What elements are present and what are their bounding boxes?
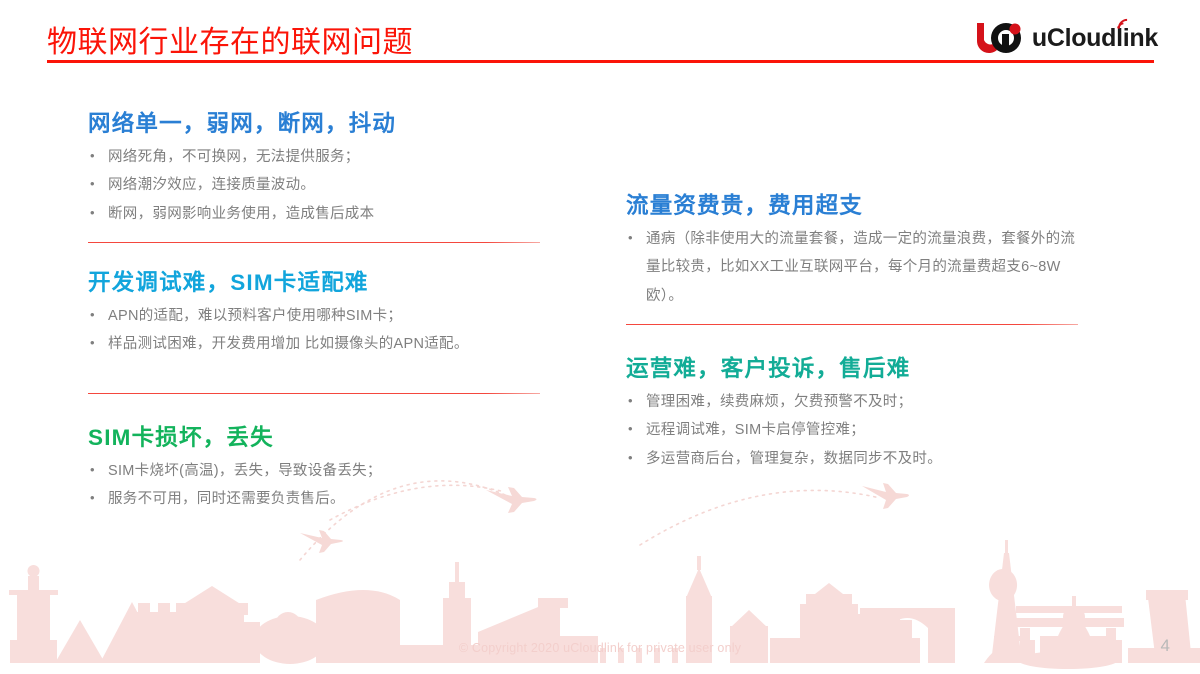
block-data-cost: 流量资费贵，费用超支 通病（除非使用大的流量套餐，造成一定的流量浪费，套餐外的流… (626, 192, 1078, 325)
ucloudlink-logo-mark (975, 21, 1023, 55)
logo-wordmark: uCloudlink (1032, 26, 1158, 51)
bullet-list: 通病（除非使用大的流量套餐，造成一定的流量浪费，套餐外的流量比较贵，比如XX工业… (626, 225, 1078, 310)
block-heading: 开发调试难，SIM卡适配难 (88, 269, 540, 296)
slide-header: 物联网行业存在的联网问题 uCloudlink (0, 0, 1200, 70)
list-item: 多运营商后台，管理复杂，数据同步不及时。 (626, 445, 1078, 473)
block-dev-debug: 开发调试难，SIM卡适配难 APN的适配，难以预料客户使用哪种SIM卡； 样品测… (88, 269, 540, 394)
list-item: 管理困难，续费麻烦，欠费预警不及时； (626, 388, 1078, 416)
block-divider (88, 393, 540, 394)
list-item: 样品测试困难，开发费用增加 比如摄像头的APN适配。 (88, 330, 540, 358)
block-divider (88, 242, 540, 243)
landmark-torii (1012, 606, 1124, 669)
bullet-list: SIM卡烧坏(高温)，丢失，导致设备丢失； 服务不可用，同时还需要负责售后。 (88, 457, 540, 514)
block-heading: 流量资费贵，费用超支 (626, 192, 1078, 219)
list-item: 远程调试难，SIM卡启停管控难； (626, 416, 1078, 444)
bullet-list: 网络死角，不可换网，无法提供服务； 网络潮汐效应，连接质量波动。 断网，弱网影响… (88, 143, 540, 228)
copyright-text: © Copyright 2020 uCloudlink for private … (0, 641, 1200, 655)
signal-icon (1117, 18, 1128, 29)
block-sim-damage: SIM卡损坏，丢失 SIM卡烧坏(高温)，丢失，导致设备丢失； 服务不可用，同时… (88, 424, 540, 514)
header-divider (47, 60, 1154, 63)
plane-icon-2 (300, 530, 343, 553)
left-column: 网络单一，弱网，断网，抖动 网络死角，不可换网，无法提供服务； 网络潮汐效应，连… (88, 110, 540, 514)
flight-path-3 (640, 490, 880, 545)
block-heading: 网络单一，弱网，断网，抖动 (88, 110, 540, 137)
list-item: SIM卡烧坏(高温)，丢失，导致设备丢失； (88, 457, 540, 485)
list-item: 断网，弱网影响业务使用，造成售后成本 (88, 200, 540, 228)
hot-air-balloon-icon (989, 569, 1017, 631)
list-item: 网络潮汐效应，连接质量波动。 (88, 171, 540, 199)
block-heading: 运营难，客户投诉，售后难 (626, 355, 1078, 382)
block-heading: SIM卡损坏，丢失 (88, 424, 540, 451)
page-title: 物联网行业存在的联网问题 (47, 17, 413, 61)
block-network-single: 网络单一，弱网，断网，抖动 网络死角，不可换网，无法提供服务； 网络潮汐效应，连… (88, 110, 540, 243)
slide: 物联网行业存在的联网问题 uCloudlink 网络单一，弱网，断网，抖动 (0, 0, 1200, 674)
ucloudlink-logo: uCloudlink (975, 18, 1158, 58)
list-item: 服务不可用，同时还需要负责售后。 (88, 485, 540, 513)
list-item: 通病（除非使用大的流量套餐，造成一定的流量浪费，套餐外的流量比较贵，比如XX工业… (626, 225, 1078, 310)
right-column: 流量资费贵，费用超支 通病（除非使用大的流量套餐，造成一定的流量浪费，套餐外的流… (626, 192, 1078, 473)
bullet-list: 管理困难，续费麻烦，欠费预警不及时； 远程调试难，SIM卡启停管控难； 多运营商… (626, 388, 1078, 473)
list-item: APN的适配，难以预料客户使用哪种SIM卡； (88, 302, 540, 330)
block-operations: 运营难，客户投诉，售后难 管理困难，续费麻烦，欠费预警不及时； 远程调试难，SI… (626, 355, 1078, 473)
page-number: 4 (1161, 636, 1170, 656)
list-item: 网络死角，不可换网，无法提供服务； (88, 143, 540, 171)
bullet-list: APN的适配，难以预料客户使用哪种SIM卡； 样品测试困难，开发费用增加 比如摄… (88, 302, 540, 359)
plane-icon-3 (862, 483, 909, 509)
block-divider (626, 324, 1078, 325)
landmark-sphinx (254, 612, 326, 664)
logo-wordmark-text: uCloudlink (1032, 24, 1158, 52)
